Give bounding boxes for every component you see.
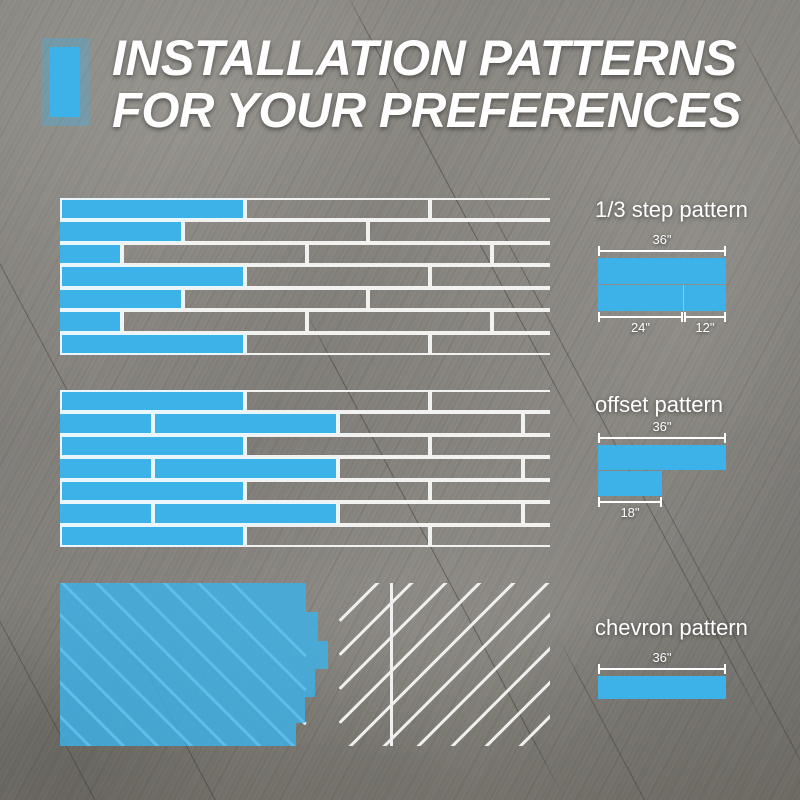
chevron-grout-line-right: [339, 651, 550, 746]
plank: [60, 502, 153, 524]
legend-plank-18-offset: [598, 471, 662, 496]
plank: [430, 435, 550, 457]
dim-label-36-chevron: 36": [598, 650, 726, 665]
chevron-highlight-region: [60, 583, 306, 612]
legend-plank-full-chevron: [598, 676, 726, 699]
title-line-2: FOR YOUR PREFERENCES: [112, 85, 772, 138]
plank: [245, 435, 430, 457]
legend-plank-24-step: [598, 285, 684, 311]
chevron-spine-seam: [390, 743, 393, 746]
plank: [60, 333, 245, 355]
plank: [430, 265, 550, 287]
plank: [60, 220, 183, 242]
chevron-spine-seam: [390, 641, 393, 675]
dim-line-36-offset: [598, 437, 726, 439]
plank: [523, 457, 551, 479]
plank: [183, 220, 368, 242]
dim-line-18-offset: [598, 501, 662, 503]
plank: [153, 502, 338, 524]
plank: [60, 412, 153, 434]
plank: [153, 457, 338, 479]
plank: [245, 480, 430, 502]
chevron-grout-line-right: [339, 583, 550, 690]
pattern-diagram-offset: [60, 390, 550, 547]
plank: [60, 525, 245, 547]
plank: [430, 390, 550, 412]
pattern-diagram-one-third-step: [60, 198, 550, 355]
dim-label-24-step: 24": [598, 320, 683, 335]
plank: [60, 288, 183, 310]
chevron-spine-seam: [390, 675, 393, 709]
plank: [430, 198, 550, 220]
legend-plank-full-step: [598, 258, 726, 284]
dim-label-36-step: 36": [598, 232, 726, 247]
title-line-1: INSTALLATION PATTERNS: [112, 32, 772, 85]
chevron-spine-seam: [390, 583, 393, 607]
plank: [245, 525, 430, 547]
plank: [245, 198, 430, 220]
dim-line-36-step: [598, 250, 726, 252]
dim-line-12-step: [684, 316, 726, 318]
plank: [338, 502, 523, 524]
plank: [60, 243, 122, 265]
plank: [492, 243, 550, 265]
dim-label-18-offset: 18": [598, 505, 662, 520]
dim-label-12-step: 12": [684, 320, 726, 335]
legend-plank-12-step: [684, 285, 726, 311]
chevron-grout-line-right: [339, 583, 550, 746]
plank: [60, 265, 245, 287]
plank: [523, 412, 551, 434]
plank: [153, 412, 338, 434]
plank: [492, 310, 550, 332]
legend-title-one-third-step: 1/3 step pattern: [595, 197, 748, 223]
plank: [245, 390, 430, 412]
plank: [430, 525, 550, 547]
plank: [307, 243, 492, 265]
legend-title-offset: offset pattern: [595, 392, 723, 418]
dim-line-36-chevron: [598, 668, 726, 670]
plank: [245, 333, 430, 355]
logo-plank-icon: [41, 38, 89, 126]
plank: [368, 220, 550, 242]
dim-line-24-step: [598, 316, 683, 318]
plank: [60, 480, 245, 502]
plank: [338, 412, 523, 434]
chevron-spine-seam: [390, 709, 393, 743]
plank: [307, 310, 492, 332]
plank: [60, 198, 245, 220]
plank: [430, 480, 550, 502]
plank: [523, 502, 551, 524]
legend-title-chevron: chevron pattern: [595, 615, 748, 641]
logo-plank-inner: [50, 47, 80, 117]
plank: [60, 435, 245, 457]
plank: [183, 288, 368, 310]
chevron-spine-seam: [390, 607, 393, 641]
plank: [245, 265, 430, 287]
pattern-diagram-chevron: [60, 583, 550, 746]
plank: [368, 288, 550, 310]
plank: [122, 310, 307, 332]
plank: [60, 390, 245, 412]
plank: [122, 243, 307, 265]
chevron-grout-line-left: [60, 651, 307, 746]
legend-plank-full-offset: [598, 445, 726, 470]
plank: [338, 457, 523, 479]
plank: [60, 457, 153, 479]
plank: [430, 333, 550, 355]
plank: [60, 310, 122, 332]
page-title: INSTALLATION PATTERNS FOR YOUR PREFERENC…: [112, 32, 772, 138]
infographic-canvas: INSTALLATION PATTERNS FOR YOUR PREFERENC…: [0, 0, 800, 800]
dim-label-36-offset: 36": [598, 419, 726, 434]
